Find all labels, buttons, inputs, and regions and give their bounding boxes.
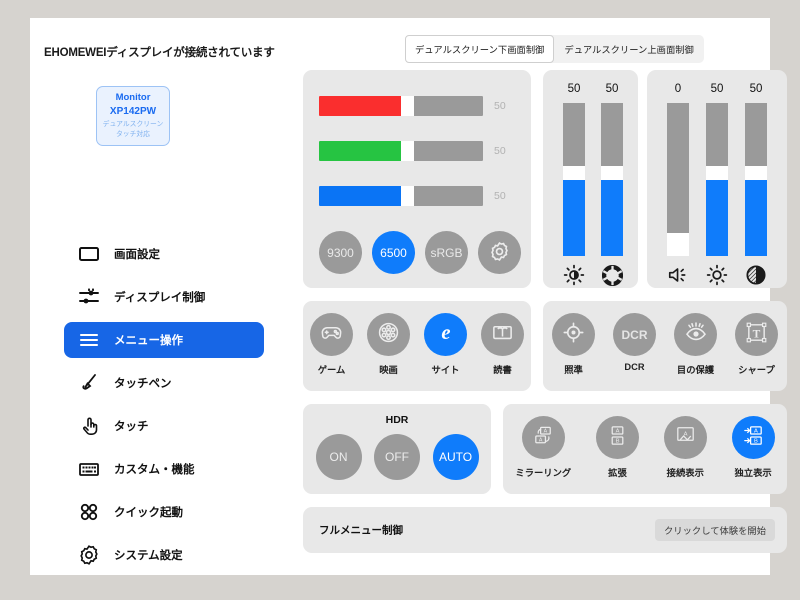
left-column: EHOMEWEIディスプレイが接続されています Monitor XP142PW … — [30, 18, 275, 575]
picture-mode-row: ゲーム 映画 — [303, 313, 531, 376]
start-experience-button[interactable]: クリックして体験を開始 — [655, 519, 775, 541]
volume-value: 0 — [675, 79, 681, 99]
extend-display-icon: A B — [605, 423, 630, 453]
book-icon — [491, 321, 514, 349]
film-reel-icon — [377, 321, 400, 349]
contrast-icon — [745, 262, 767, 288]
rgb-slider-blue-row: 50 — [319, 186, 519, 206]
rgb-slider-blue[interactable] — [319, 186, 483, 206]
display-mode-joined-label: 接続表示 — [667, 465, 704, 479]
mode-game-label: ゲーム — [318, 362, 346, 376]
display-mode-panel: A A ミラーリング — [503, 404, 787, 494]
sidebar-item-screen-settings[interactable]: 画面設定 — [64, 236, 264, 272]
rgb-red-remainder — [414, 96, 483, 116]
crosshair-icon — [562, 321, 585, 349]
brightness-value: 50 — [568, 79, 581, 99]
color-temp-srgb-button[interactable]: sRGB — [425, 231, 468, 274]
ie-browser-icon: e — [433, 319, 459, 350]
brightness-track[interactable] — [563, 103, 585, 256]
eye-care-icon — [684, 320, 708, 349]
mode-crosshair-label: 照準 — [564, 362, 583, 376]
hdr-panel: HDR ON OFF AUTO — [303, 404, 491, 494]
mode-eye-care-circle — [674, 313, 717, 356]
display-mode-joined-circle: A — [664, 416, 707, 459]
four-dots-icon — [78, 501, 100, 523]
contrast-remainder-2 — [745, 103, 767, 166]
color-temp-9300-button[interactable]: 9300 — [319, 231, 362, 274]
sidebar-item-display-control[interactable]: ディスプレイ制御 — [64, 279, 264, 315]
contrast-fill-2 — [745, 180, 767, 257]
rgb-panel: 50 50 50 9300 6500 sRGB — [303, 70, 531, 288]
monitor-card-model: XP142PW — [110, 105, 156, 119]
rgb-red-fill — [319, 96, 401, 116]
rgb-slider-green-row: 50 — [319, 141, 519, 161]
sidebar-item-quick-launch[interactable]: クイック起動 — [64, 494, 264, 530]
svg-text:e: e — [441, 322, 450, 344]
hand-touch-icon — [78, 415, 100, 437]
brightness-remainder — [563, 103, 585, 166]
mode-crosshair[interactable]: 照準 — [552, 313, 595, 376]
content-area: デュアルスクリーン下画面制御 デュアルスクリーン上画面制御 50 50 — [275, 18, 770, 575]
rgb-slider-red[interactable] — [319, 96, 483, 116]
sidebar-item-touch-pen[interactable]: タッチペン — [64, 365, 264, 401]
brightness-value-2: 50 — [711, 79, 724, 99]
mode-movie[interactable]: 映画 — [367, 313, 410, 376]
sidebar-item-label: メニュー操作 — [114, 332, 183, 348]
vertical-slider-brightness-2: 50 — [697, 70, 737, 288]
svg-text:A: A — [754, 428, 758, 434]
brightness-remainder-2 — [706, 103, 728, 166]
mode-movie-label: 映画 — [379, 362, 398, 376]
hdr-auto-button[interactable]: AUTO — [433, 434, 479, 480]
gear-icon — [489, 241, 510, 265]
mode-game[interactable]: ゲーム — [310, 313, 353, 376]
tab-lower-screen-control[interactable]: デュアルスクリーン下画面制御 — [405, 35, 554, 63]
contrast-track[interactable] — [601, 103, 623, 256]
picture-mode-panel: ゲーム 映画 — [303, 301, 531, 391]
mode-movie-circle — [367, 313, 410, 356]
mode-eye-care-label: 目の保護 — [677, 362, 714, 376]
volume-icon — [667, 262, 689, 288]
keyboard-icon — [78, 458, 100, 480]
tab-upper-screen-control[interactable]: デュアルスクリーン上画面制御 — [554, 35, 703, 63]
page-title: EHOMEWEIディスプレイが接続されています — [44, 44, 275, 60]
stylus-pen-icon — [78, 372, 100, 394]
display-mode-independent-circle: A B — [732, 416, 775, 459]
mode-website-circle: e — [424, 313, 467, 356]
dcr-text-icon: DCR — [622, 328, 648, 342]
svg-text:A: A — [616, 428, 620, 434]
sidebar-item-label: 画面設定 — [114, 246, 160, 262]
mode-reading[interactable]: 読書 — [481, 313, 524, 376]
volume-track[interactable] — [667, 103, 689, 256]
sidebar-item-label: タッチ — [114, 418, 149, 434]
brightness-fill — [563, 180, 585, 257]
rgb-slider-red-row: 50 — [319, 96, 519, 116]
sidebar-item-system-settings[interactable]: システム設定 — [64, 537, 264, 573]
joined-display-icon: A — [673, 423, 698, 453]
mode-sharpness[interactable]: T シャープ — [735, 313, 778, 376]
color-temperature-row: 9300 6500 sRGB — [319, 231, 521, 274]
monitor-icon — [78, 243, 100, 265]
sliders-icon — [78, 286, 100, 308]
mode-dcr-label: DCR — [624, 362, 644, 372]
display-mode-extend-label: 拡張 — [608, 465, 627, 479]
volume-remainder — [667, 103, 689, 233]
rgb-green-fill — [319, 141, 401, 161]
hdr-button-row: ON OFF AUTO — [303, 434, 491, 480]
rgb-blue-fill — [319, 186, 401, 206]
display-mode-extend-circle: A B — [596, 416, 639, 459]
sidebar-item-label: システム設定 — [114, 547, 183, 563]
mode-crosshair-circle — [552, 313, 595, 356]
gear-icon — [78, 544, 100, 566]
sidebar-item-label: カスタム・機能 — [114, 461, 195, 477]
brightness-contrast-panel: 50 50 — [543, 70, 638, 288]
independent-display-icon: A B — [741, 423, 766, 453]
vertical-slider-contrast: 50 — [592, 70, 632, 288]
svg-text:A: A — [543, 428, 547, 434]
contrast-value: 50 — [606, 79, 619, 99]
svg-text:A: A — [539, 437, 543, 443]
mode-reading-label: 読書 — [493, 362, 512, 376]
full-menu-label: フルメニュー制御 — [319, 523, 403, 538]
monitor-card-title: Monitor — [116, 92, 151, 104]
sidebar-item-label: クイック起動 — [114, 504, 183, 520]
display-mode-joined[interactable]: A 接続表示 — [664, 416, 707, 479]
vertical-slider-contrast-2: 50 — [736, 70, 776, 288]
mode-eye-care[interactable]: 目の保護 — [674, 313, 717, 376]
display-mode-extend[interactable]: A B 拡張 — [596, 416, 639, 479]
svg-text:B: B — [616, 438, 620, 444]
monitor-card-sub-line2: タッチ対応 — [116, 130, 150, 140]
contrast-ring-icon — [602, 262, 623, 288]
brightness-icon — [563, 262, 585, 288]
display-mode-mirroring-label: ミラーリング — [515, 465, 571, 479]
sidebar-item-label: タッチペン — [114, 375, 172, 391]
display-mode-mirroring[interactable]: A A ミラーリング — [515, 416, 571, 479]
monitor-card-sub-line1: デュアルスクリーン — [103, 120, 164, 130]
hdr-title: HDR — [303, 414, 491, 426]
rgb-blue-remainder — [414, 186, 483, 206]
display-mode-independent[interactable]: A B 独立表示 — [732, 416, 775, 479]
mirror-display-icon: A A — [531, 423, 556, 453]
hdr-off-button[interactable]: OFF — [374, 434, 420, 480]
mode-sharpness-circle: T — [735, 313, 778, 356]
contrast-remainder — [601, 103, 623, 166]
mode-dcr-circle: DCR — [613, 313, 656, 356]
app-window: EHOMEWEIディスプレイが接続されています Monitor XP142PW … — [30, 18, 770, 575]
monitor-card[interactable]: Monitor XP142PW デュアルスクリーン タッチ対応 — [96, 86, 170, 146]
rgb-blue-value: 50 — [494, 190, 506, 202]
mode-reading-circle — [481, 313, 524, 356]
sidebar-item-touch[interactable]: タッチ — [64, 408, 264, 444]
gamepad-icon — [320, 321, 343, 349]
contrast-value-2: 50 — [750, 79, 763, 99]
contrast-fill — [601, 180, 623, 257]
rgb-red-value: 50 — [494, 100, 506, 112]
color-temp-settings-button[interactable] — [478, 231, 521, 274]
sidebar-item-menu-operation[interactable]: メニュー操作 — [64, 322, 264, 358]
brightness-icon — [706, 262, 728, 288]
mode-dcr[interactable]: DCR DCR — [613, 313, 656, 376]
mode-game-circle — [310, 313, 353, 356]
mode-sharpness-label: シャープ — [738, 362, 775, 376]
vertical-slider-brightness: 50 — [554, 70, 594, 288]
display-mode-row: A A ミラーリング — [503, 416, 787, 479]
hdr-on-button[interactable]: ON — [316, 434, 362, 480]
volume-brightness-contrast-panel: 0 50 — [647, 70, 787, 288]
rgb-green-remainder — [414, 141, 483, 161]
sidebar-item-label: ディスプレイ制御 — [114, 289, 205, 305]
rgb-green-value: 50 — [494, 145, 506, 157]
sharpness-icon: T — [745, 321, 768, 349]
svg-text:B: B — [754, 438, 758, 444]
image-enhance-row: 照準 DCR DCR — [543, 313, 787, 376]
vertical-slider-volume: 0 — [658, 70, 698, 288]
display-mode-independent-label: 独立表示 — [734, 465, 771, 479]
rgb-slider-green[interactable] — [319, 141, 483, 161]
sidebar-item-custom-functions[interactable]: カスタム・機能 — [64, 451, 264, 487]
color-temp-6500-button[interactable]: 6500 — [372, 231, 415, 274]
brightness-track-2[interactable] — [706, 103, 728, 256]
brightness-fill-2 — [706, 180, 728, 257]
screen-tabs: デュアルスクリーン下画面制御 デュアルスクリーン上画面制御 — [405, 35, 704, 63]
svg-text:T: T — [753, 328, 761, 340]
hamburger-icon — [78, 329, 100, 351]
sidebar-nav: 画面設定 ディスプレイ制御 — [64, 236, 264, 580]
image-enhance-panel: 照準 DCR DCR — [543, 301, 787, 391]
full-menu-bar: フルメニュー制御 クリックして体験を開始 — [303, 507, 787, 553]
contrast-track-2[interactable] — [745, 103, 767, 256]
mode-website[interactable]: e サイト — [424, 313, 467, 376]
mode-website-label: サイト — [432, 362, 460, 376]
display-mode-mirroring-circle: A A — [522, 416, 565, 459]
